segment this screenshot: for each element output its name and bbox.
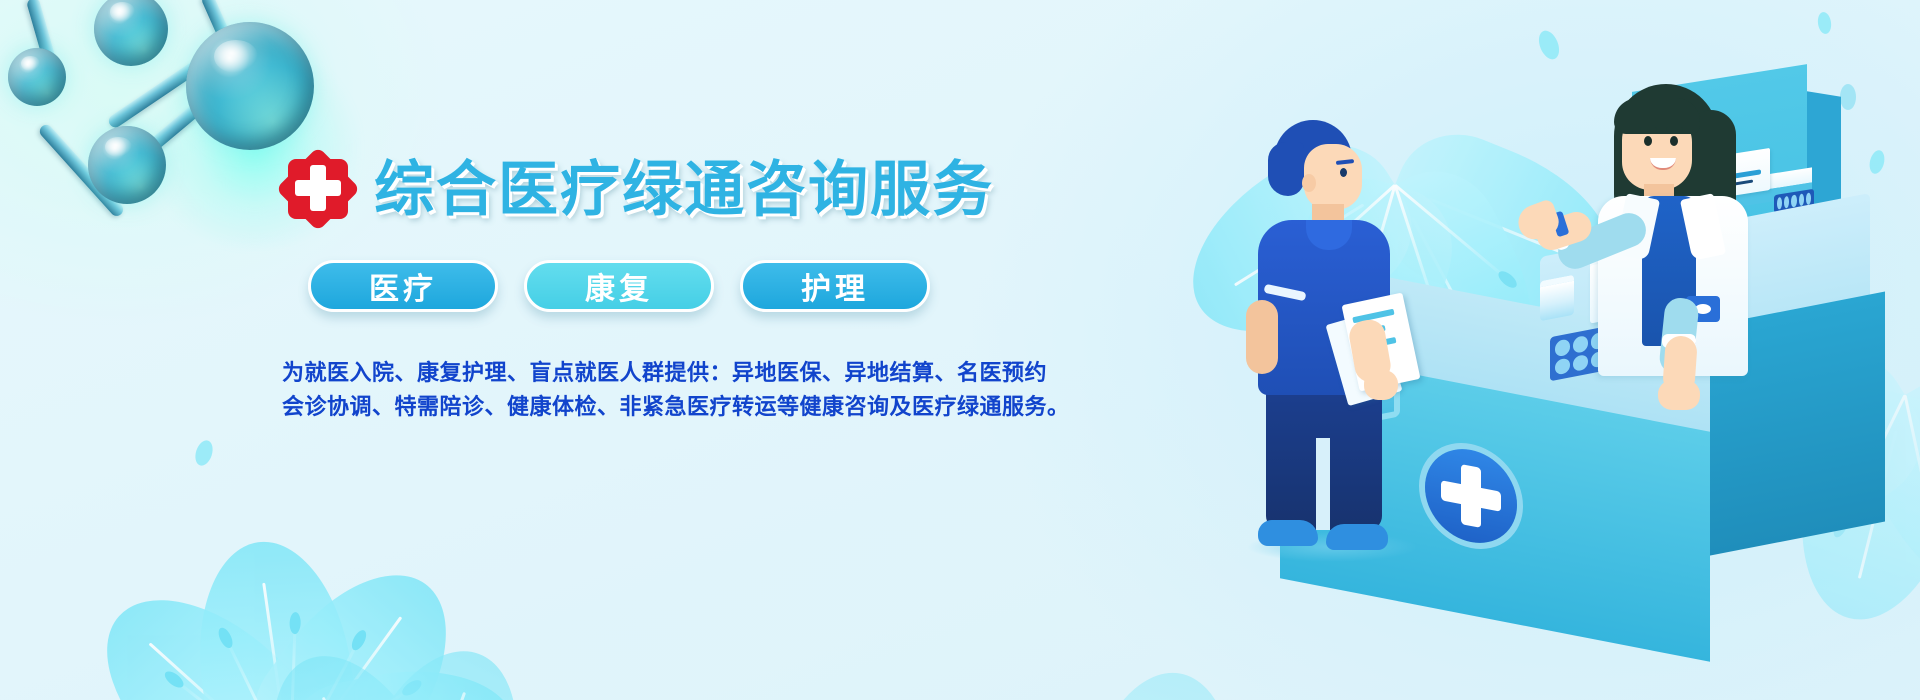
decorative-flower-bottom-center <box>930 690 1350 700</box>
decorative-speck <box>1817 11 1833 35</box>
patient-leg-gap <box>1316 438 1330 530</box>
title-row: 综合医疗绿通咨询服务 <box>280 150 1040 230</box>
molecule-atom <box>88 126 166 204</box>
patient-shoe-left <box>1258 520 1318 546</box>
white-cross-glyph <box>295 165 341 211</box>
molecule-atom-large <box>186 22 314 150</box>
patient-arm-left <box>1246 300 1278 374</box>
pharmacy-scene-illustration <box>1240 60 1920 620</box>
service-tag-medical[interactable]: 医疗 <box>308 260 498 312</box>
patient-ear <box>1302 174 1316 192</box>
pharmacist-fringe <box>1614 98 1700 134</box>
description-line-2: 会诊协调、特需陪诊、健康体检、非紧急医疗转运等健康咨询及医疗绿通服务。 <box>282 390 1040 424</box>
pharmacist-figure <box>1558 84 1808 414</box>
molecule-atom <box>8 48 66 106</box>
scene-dot <box>1840 84 1856 110</box>
molecule-atom <box>94 0 168 66</box>
patient-hair-side <box>1268 142 1304 196</box>
pharmacist-eyebrow-right <box>1666 127 1683 131</box>
service-tag-list: 医疗 康复 护理 <box>308 260 1040 312</box>
red-cross-icon <box>280 150 356 230</box>
decorative-speck <box>1535 28 1563 63</box>
service-tag-rehabilitation[interactable]: 康复 <box>524 260 714 312</box>
service-description: 为就医入院、康复护理、盲点就医人群提供：异地医保、异地结算、名医预约 会诊协调、… <box>282 356 1040 424</box>
pharmacist-eye-right <box>1670 136 1678 146</box>
decorative-flower-bottom-left <box>40 520 540 700</box>
service-tag-nursing[interactable]: 护理 <box>740 260 930 312</box>
decorative-flower-lower-left <box>190 660 610 700</box>
patient-eye <box>1340 168 1347 177</box>
pharmacist-eye-left <box>1644 136 1652 146</box>
healthcare-banner: 综合医疗绿通咨询服务 医疗 康复 护理 为就医入院、康复护理、盲点就医人群提供：… <box>0 0 1920 700</box>
patient-hand <box>1364 370 1398 400</box>
description-line-1: 为就医入院、康复护理、盲点就医人群提供：异地医保、异地结算、名医预约 <box>282 356 1040 390</box>
pharmacist-hand-resting <box>1658 380 1700 410</box>
patient-shoe-right <box>1326 524 1388 550</box>
banner-content: 综合医疗绿通咨询服务 医疗 康复 护理 为就医入院、康复护理、盲点就医人群提供：… <box>280 150 1040 424</box>
decorative-speck <box>192 438 215 468</box>
patient-figure <box>1240 120 1430 540</box>
pharmacist-eyebrow-left <box>1640 127 1657 131</box>
molecule-illustration <box>0 0 320 230</box>
page-title: 综合医疗绿通咨询服务 <box>374 160 994 220</box>
